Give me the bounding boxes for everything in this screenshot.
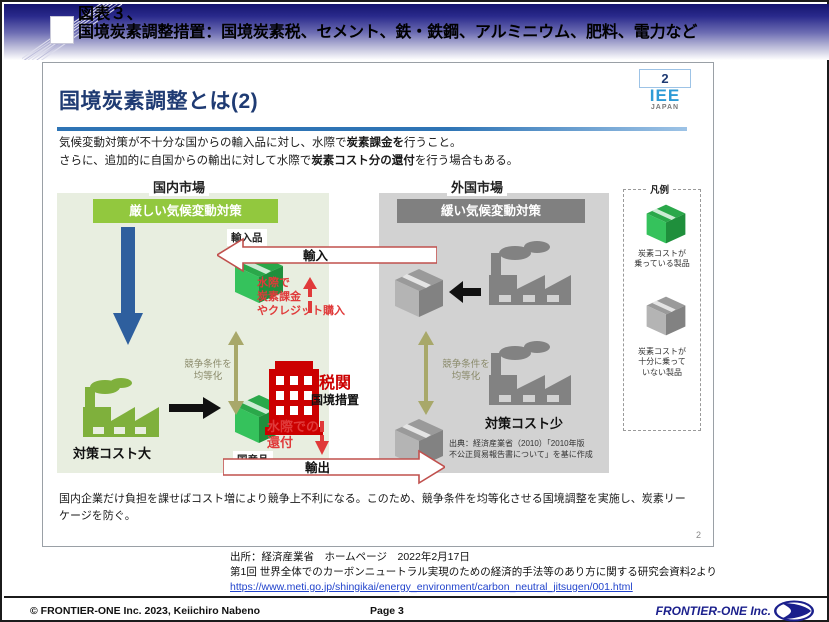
diagram-source-note: 出典：経済産業省（2010）「2010年版 不公正貿易報告書について」を基に作成 [449, 439, 617, 461]
policy-pressure-arrow-icon [113, 227, 143, 347]
footer-page-number: Page 3 [370, 605, 404, 617]
lead-line-1: 気候変動対策が不十分な国からの輸入品に対し、水際で炭素課金を行うこと。 [59, 135, 659, 153]
slide-page-number: 2 [696, 530, 701, 540]
refund-note: 水際での 還付 [267, 419, 319, 452]
levy-up-arrow-icon [303, 277, 317, 315]
lead-line-2: さらに、追加的に自国からの輸出に対して水際で炭素コスト分の還付を行う場合もある。 [59, 153, 659, 171]
strict-policy-band: 厳しい気候変動対策 [93, 199, 278, 223]
lax-policy-band: 緩い気候変動対策 [397, 199, 585, 223]
export-arrow-label: 輸出 [305, 457, 330, 476]
domestic-market-label: 国内市場 [149, 177, 209, 196]
lead-2a: さらに、追加的に自国からの輸出に対して水際で [59, 155, 311, 167]
citation-line-1: 出所：経済産業省 ホームページ 2022年2月17日 [230, 550, 826, 565]
foreign-factory-top-icon [481, 239, 577, 311]
header-title-line1: 図表３、 [78, 6, 826, 24]
lead-1b: 炭素課金を [347, 137, 405, 149]
equalize-label-left: 競争条件を 均等化 [177, 359, 239, 383]
citation-line-2: 第1回 世界全体でのカーボンニュートラル実現のための経済的手法等のあり方に関する… [230, 565, 826, 580]
domestic-factory-icon [77, 377, 163, 441]
lead-paragraph: 気候変動対策が不十分な国からの輸入品に対し、水際で炭素課金を行うこと。 さらに、… [59, 135, 659, 171]
footer-divider [4, 596, 829, 598]
source-citation: 出所：経済産業省 ホームページ 2022年2月17日 第1回 世界全体でのカーボ… [230, 550, 826, 595]
slide-bottom-note: 国内企業だけ負担を課せばコスト増により競争上不利になる。このため、競争条件を均等… [59, 491, 693, 524]
lead-2c: を行う場合もある。 [415, 155, 519, 167]
lead-2b: 炭素コスト分の還付 [311, 155, 415, 167]
footer-brand-name: FRONTIER-ONE Inc. [656, 604, 771, 618]
slide-title: 国境炭素調整とは(2) [59, 85, 258, 115]
header-square-decoration [50, 16, 74, 44]
slide-page: 図表３、 国境炭素調整措置：国境炭素税、セメント、鉄・鉄鋼、アルミニウム、肥料、… [0, 0, 829, 622]
equalize-label-right: 競争条件を 均等化 [435, 359, 497, 383]
lead-1c: 行うこと。 [404, 137, 462, 149]
legend-caption-1: 炭素コストが 乗っている製品 [623, 249, 701, 270]
iee-japan-logo: 2 IEE JAPAN [639, 69, 691, 115]
customs-subtitle: 国境措置 [311, 391, 359, 408]
lead-1a: 気候変動対策が不十分な国からの輸入品に対し、水際で [59, 137, 347, 149]
import-levy-note: 水際で 炭素課金 やクレジット購入 [257, 277, 345, 318]
footer-copyright: © FRONTIER-ONE Inc. 2023, Keiichiro Nabe… [30, 605, 260, 617]
logo-iee-text: IEE [639, 88, 691, 104]
header-banner: 図表３、 国境炭素調整措置：国境炭素税、セメント、鉄・鉄鋼、アルミニウム、肥料、… [4, 4, 829, 60]
header-title-line2: 国境炭素調整措置：国境炭素税、セメント、鉄・鉄鋼、アルミニウム、肥料、電力など [78, 24, 826, 42]
domestic-supply-arrow-icon [169, 397, 221, 419]
legend-green-box-icon [645, 203, 687, 245]
foreign-market-label: 外国市場 [447, 177, 507, 196]
header-title: 図表３、 国境炭素調整措置：国境炭素税、セメント、鉄・鉄鋼、アルミニウム、肥料、… [78, 6, 826, 42]
border-carbon-adjustment-diagram: 国内市場 外国市場 厳しい気候変動対策 緩い気候変動対策 対策コスト大 [57, 181, 703, 481]
citation-url-link[interactable]: https://www.meti.go.jp/shingikai/energy_… [230, 580, 826, 595]
export-flow-arrow-icon [223, 449, 445, 485]
import-arrow-label: 輸入 [303, 245, 328, 264]
foreign-cost-label: 対策コスト少 [485, 413, 563, 432]
legend-caption-2: 炭素コストが 十分に乗って いない製品 [623, 347, 701, 378]
refund-down-arrow-icon [315, 421, 329, 455]
foreign-goods-gray-box-icon [393, 267, 445, 319]
frontier-one-logo-icon [773, 600, 815, 622]
domestic-cost-label: 対策コスト大 [73, 443, 151, 462]
foreign-supply-arrow-icon [449, 281, 481, 303]
title-underline [57, 127, 687, 131]
embedded-slide: 国境炭素調整とは(2) 2 IEE JAPAN 気候変動対策が不十分な国からの輸… [42, 62, 714, 547]
logo-japan-text: JAPAN [639, 104, 691, 112]
legend-gray-box-icon [645, 295, 687, 337]
legend-title: 凡例 [647, 182, 672, 196]
equalize-arrow-right-icon [415, 331, 437, 415]
customs-title: 税関 [319, 369, 351, 393]
